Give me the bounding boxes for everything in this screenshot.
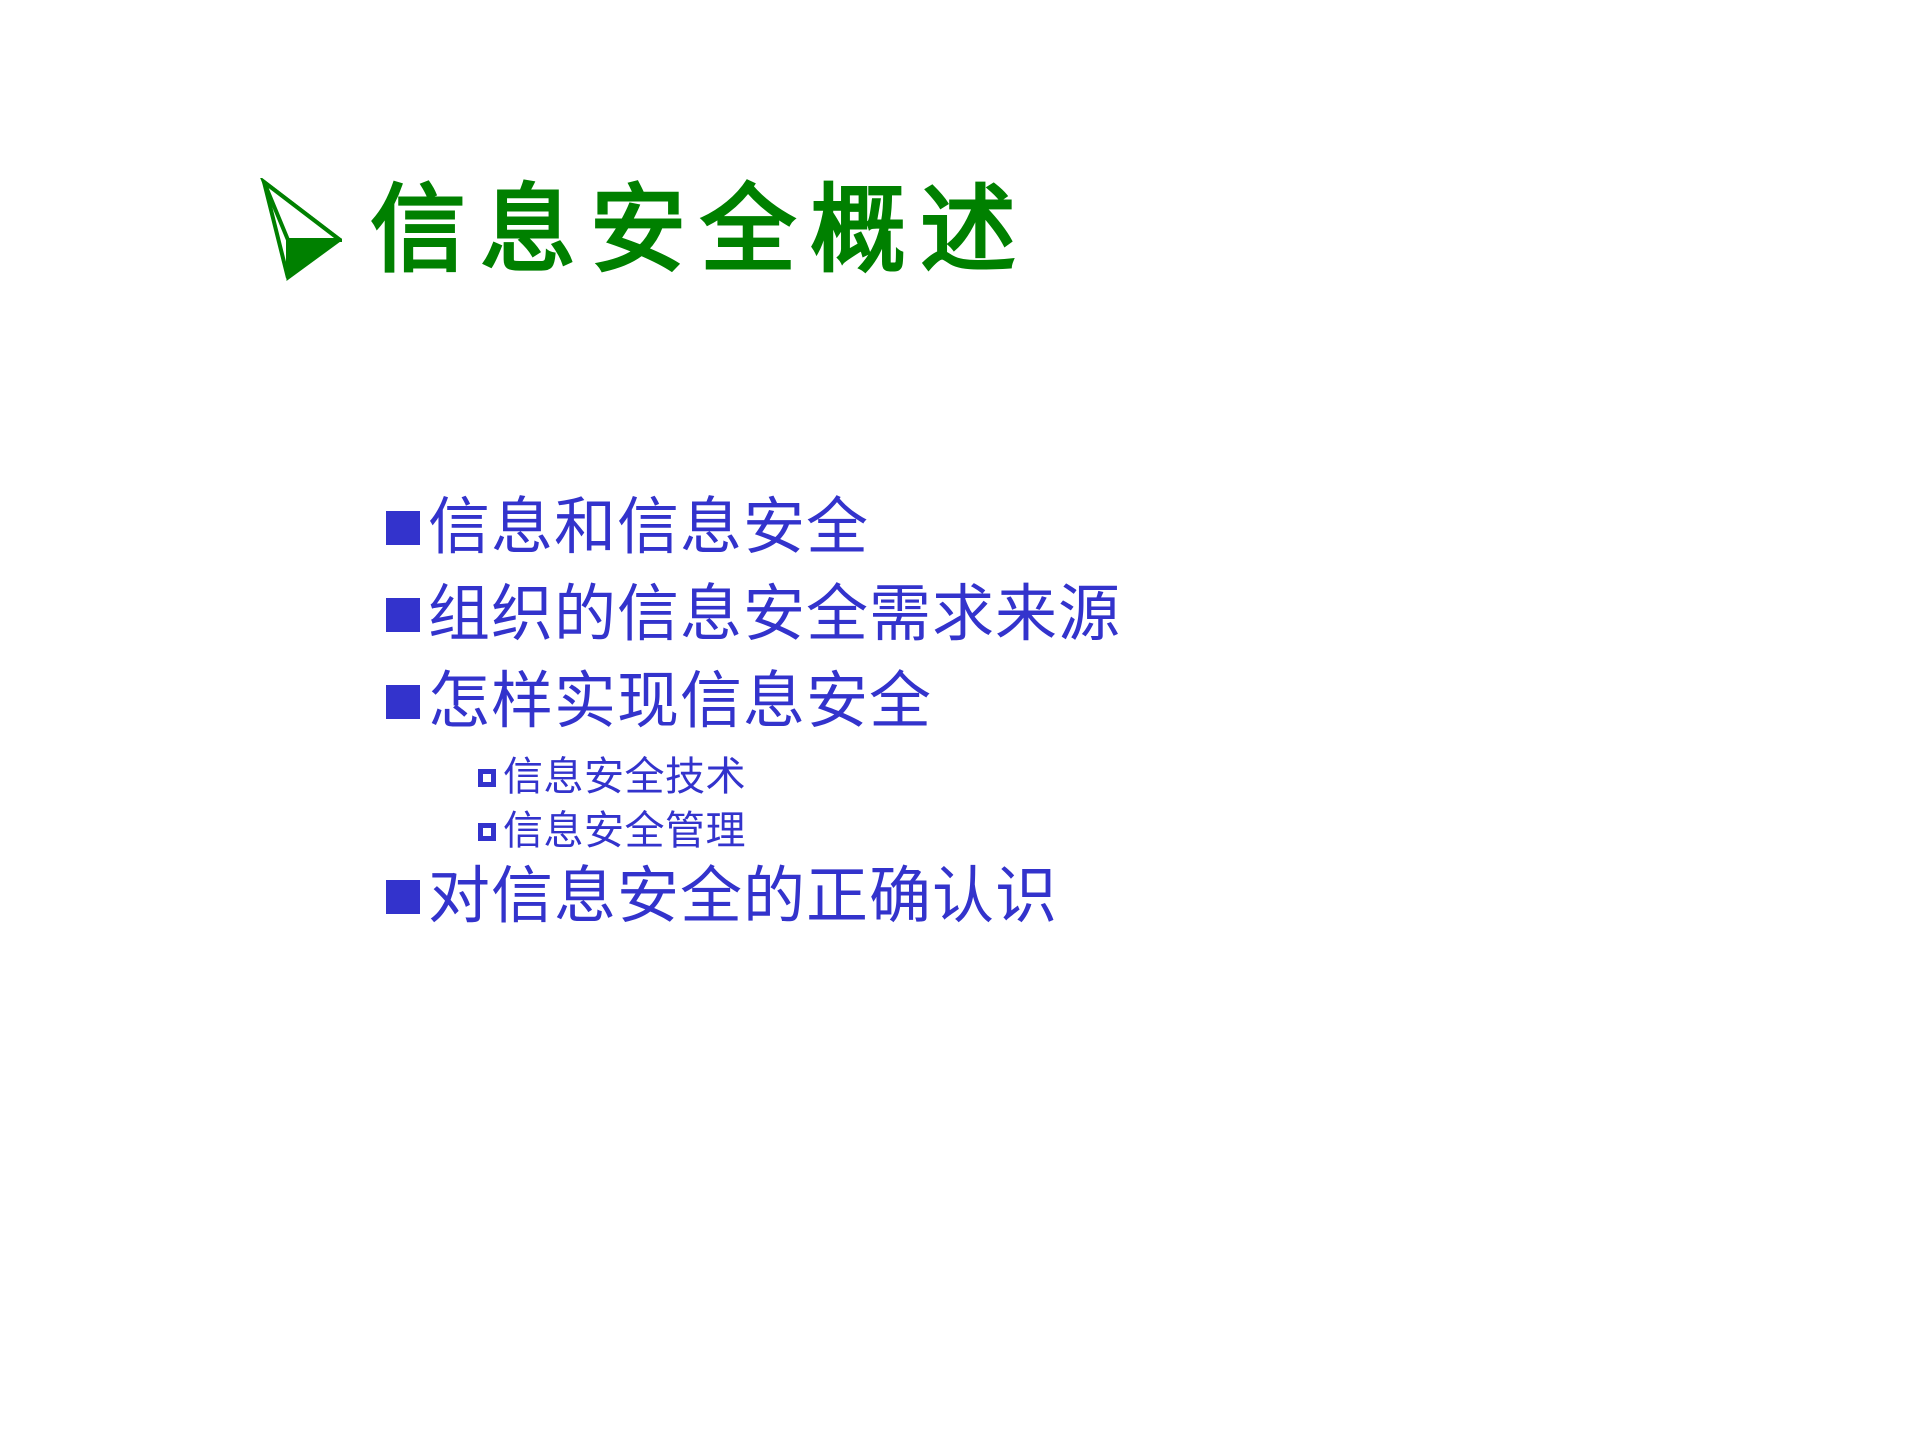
presentation-slide: 信息安全概述 信息和信息安全 组织的信息安全需求来源 怎样实现信息安全 信息安全… (0, 0, 1920, 1440)
sub-list-item-label: 信息安全管理 (503, 807, 746, 855)
list-item: 信息和信息安全 (386, 492, 1686, 565)
list-item: 对信息安全的正确认识 (386, 861, 1686, 934)
slide-title-row: 信息安全概述 (258, 178, 1030, 282)
filled-square-bullet-icon (386, 598, 420, 632)
list-item-label: 组织的信息安全需求来源 (428, 579, 1121, 652)
slide-body-outline: 信息和信息安全 组织的信息安全需求来源 怎样实现信息安全 信息安全技术 信息安全… (386, 492, 1686, 949)
list-item-label: 怎样实现信息安全 (428, 666, 932, 739)
hollow-square-bullet-icon (478, 823, 496, 841)
filled-square-bullet-icon (386, 685, 420, 719)
sub-list-item: 信息安全管理 (386, 807, 1686, 855)
list-item: 组织的信息安全需求来源 (386, 579, 1686, 652)
list-item-label: 信息和信息安全 (428, 492, 869, 565)
hollow-square-bullet-icon (478, 769, 496, 787)
list-item-label: 对信息安全的正确认识 (428, 861, 1058, 934)
list-item: 怎样实现信息安全 (386, 666, 1686, 739)
sub-list-item: 信息安全技术 (386, 753, 1686, 801)
page-title: 信息安全概述 (370, 180, 1030, 281)
sub-list: 信息安全技术 信息安全管理 (386, 753, 1686, 855)
arrow-right-bullet-icon (258, 178, 342, 282)
sub-list-item-label: 信息安全技术 (503, 753, 746, 801)
filled-square-bullet-icon (386, 880, 420, 914)
filled-square-bullet-icon (386, 511, 420, 545)
